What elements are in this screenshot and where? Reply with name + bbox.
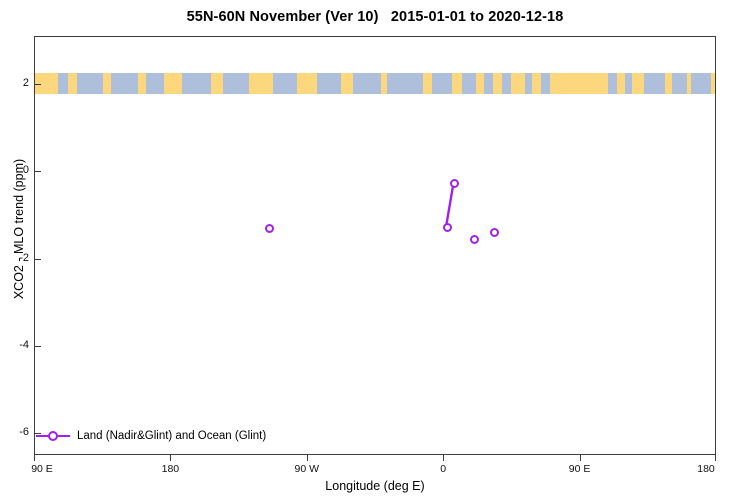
y-tick-mark [34,346,41,347]
x-tick-mark [307,455,308,461]
map-ocean-segment [58,73,69,94]
x-tick-mark [580,455,581,461]
series-segment [446,183,454,227]
data-point-marker [470,235,479,244]
map-ocean-segment [502,73,511,94]
legend-circle-icon [48,431,58,441]
page-title: 55N-60N November (Ver 10) 2015-01-01 to … [0,9,750,25]
y-tick-mark [34,259,41,260]
series-line-overlay [35,37,715,454]
x-tick-label: 90 E [31,463,53,475]
x-tick-label: 180 [697,463,715,475]
legend-marker-swatch [36,430,70,442]
x-axis-label: Longitude (deg E) [0,479,750,493]
x-tick-label: 90 W [295,463,320,475]
map-ocean-segment [273,73,297,94]
x-tick-mark [170,455,171,461]
map-coverage-strip [35,73,715,94]
map-ocean-segment [182,73,211,94]
y-axis-label: XCO2 - MLO trend (ppm) [12,114,26,344]
x-tick-label: 0 [440,463,446,475]
map-ocean-segment [608,73,617,94]
map-ocean-segment [77,73,103,94]
map-ocean-segment [672,73,687,94]
y-tick-mark [34,171,41,172]
x-tick-mark [715,455,716,461]
data-point-marker [443,223,452,232]
map-ocean-segment [541,73,550,94]
data-point-marker [265,224,274,233]
legend: Land (Nadir&Glint) and Ocean (Glint) [36,428,266,444]
map-ocean-segment [387,73,423,94]
y-tick-label: -6 [0,426,29,438]
x-tick-mark [443,455,444,461]
map-ocean-segment [462,73,476,94]
x-tick-label: 180 [162,463,180,475]
y-tick-label: 2 [0,77,29,89]
map-ocean-segment [691,73,711,94]
data-point-marker [450,179,459,188]
map-ocean-segment [223,73,249,94]
x-tick-mark [34,455,35,461]
y-tick-mark [34,84,41,85]
data-point-marker [490,228,499,237]
map-ocean-segment [317,73,341,94]
map-ocean-segment [625,73,633,94]
chart-figure: 55N-60N November (Ver 10) 2015-01-01 to … [0,0,750,500]
plot-area [34,36,716,455]
map-ocean-segment [644,73,665,94]
map-ocean-segment [525,73,533,94]
x-tick-label: 90 E [569,463,591,475]
map-ocean-segment [432,73,452,94]
map-ocean-segment [146,73,164,94]
map-ocean-segment [484,73,493,94]
map-ocean-segment [111,73,138,94]
legend-item-label: Land (Nadir&Glint) and Ocean (Glint) [77,430,266,442]
map-ocean-segment [353,73,380,94]
